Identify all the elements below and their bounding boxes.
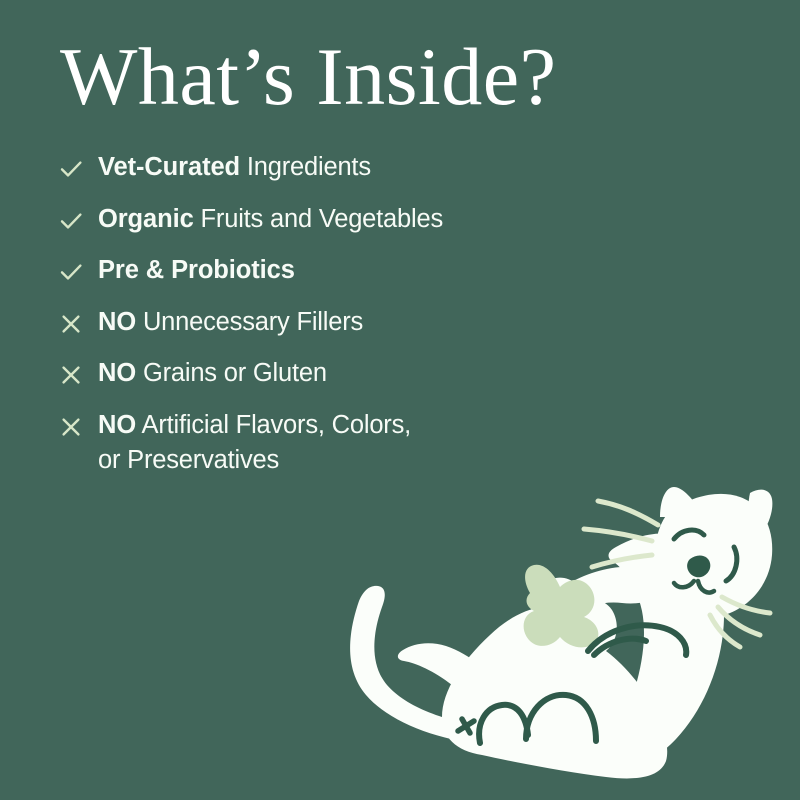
list-item-emphasis: Organic bbox=[98, 205, 194, 233]
check-icon bbox=[58, 202, 98, 238]
list-item-emphasis: NO bbox=[98, 411, 136, 439]
ingredients-list: Vet-Curated Ingredients Organic Fruits a… bbox=[58, 150, 718, 478]
list-item: Pre & Probiotics bbox=[58, 253, 718, 305]
list-item-rest: Ingredients bbox=[240, 153, 371, 181]
list-item-emphasis: Pre & Probiotics bbox=[98, 256, 295, 284]
promo-card: What’s Inside? Vet-Curated Ingredients O… bbox=[0, 0, 800, 800]
list-item: NO Grains or Gluten bbox=[58, 356, 718, 408]
list-item-text: Vet-Curated Ingredients bbox=[98, 150, 718, 184]
list-item-text: NO Artificial Flavors, Colors, bbox=[98, 408, 718, 442]
cross-icon bbox=[58, 305, 98, 341]
list-item: NO Unnecessary Fillers bbox=[58, 305, 718, 357]
list-item-emphasis: Vet-Curated bbox=[98, 153, 240, 181]
list-item: Organic Fruits and Vegetables bbox=[58, 202, 718, 254]
list-item-emphasis: NO bbox=[98, 308, 136, 336]
list-item-rest: Artificial Flavors, Colors, bbox=[136, 411, 411, 439]
list-item-text: NO Unnecessary Fillers bbox=[98, 305, 718, 339]
list-item-rest: Unnecessary Fillers bbox=[136, 308, 363, 336]
check-icon bbox=[58, 150, 98, 186]
list-item-rest: Grains or Gluten bbox=[136, 359, 327, 387]
cross-icon bbox=[58, 356, 98, 392]
cat-lying-on-back-illustration bbox=[330, 455, 800, 800]
check-icon bbox=[58, 253, 98, 289]
cat-head bbox=[655, 487, 772, 618]
list-item-emphasis: NO bbox=[98, 359, 136, 387]
list-item-text: Pre & Probiotics bbox=[98, 253, 718, 287]
cross-icon bbox=[58, 408, 98, 444]
list-item-rest: Fruits and Vegetables bbox=[194, 205, 443, 233]
list-item: Vet-Curated Ingredients bbox=[58, 150, 718, 202]
list-item-text: Organic Fruits and Vegetables bbox=[98, 202, 718, 236]
page-title: What’s Inside? bbox=[60, 36, 557, 118]
list-item-text: NO Grains or Gluten bbox=[98, 356, 718, 390]
